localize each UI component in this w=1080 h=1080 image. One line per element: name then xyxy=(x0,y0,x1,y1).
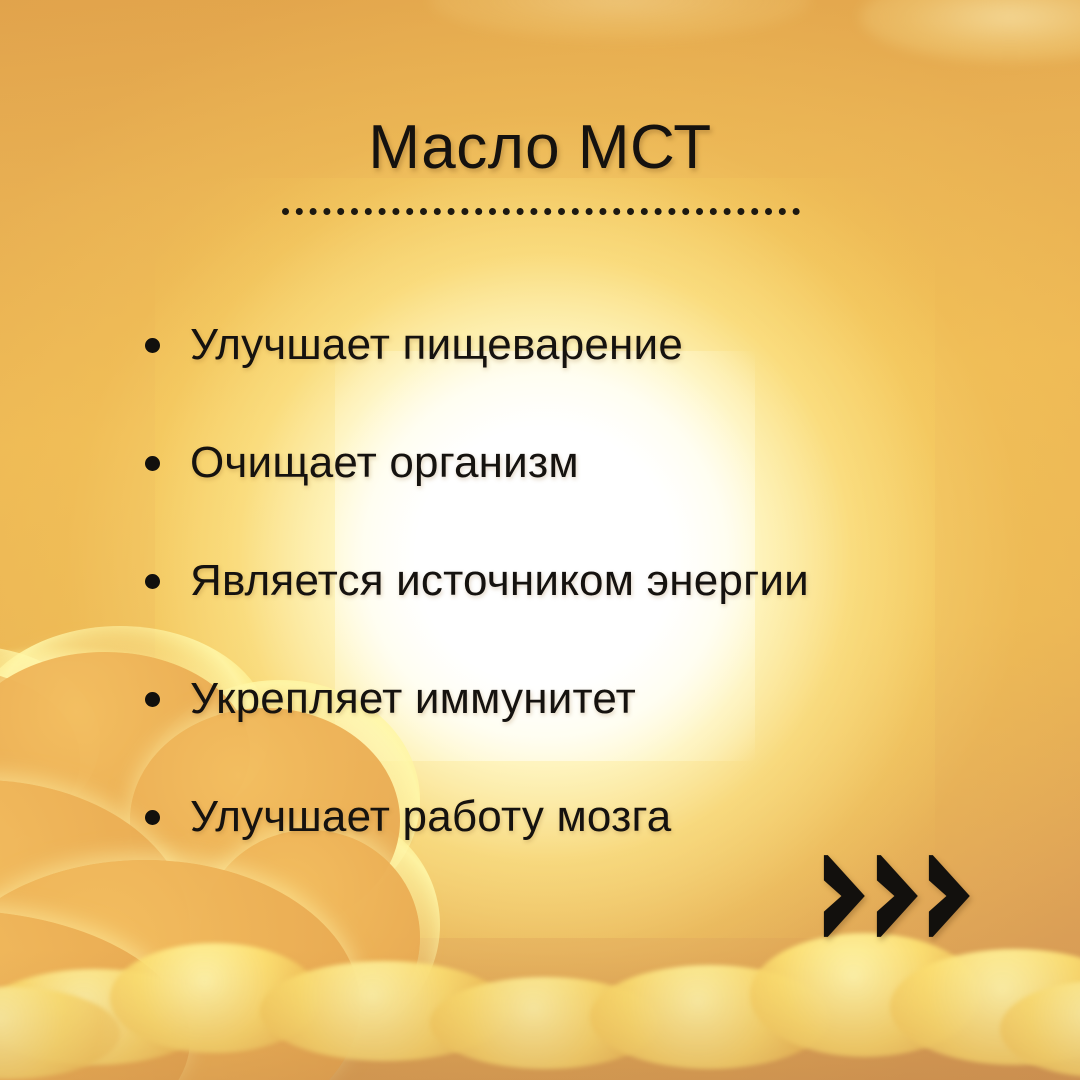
bullet-dot-icon xyxy=(145,692,160,707)
benefit-label: Является источником энергии xyxy=(190,556,809,606)
chevron-right-icon xyxy=(925,848,976,944)
benefit-label: Улучшает работу мозга xyxy=(190,792,671,842)
benefit-label: Улучшает пищеварение xyxy=(190,320,683,370)
dotted-divider xyxy=(282,208,800,215)
bullet-dot-icon xyxy=(145,574,160,589)
poster-content: Масло МСТ Улучшает пищеварение Очищает о… xyxy=(0,0,1080,1080)
list-item: Улучшает пищеварение xyxy=(142,286,1002,404)
bullet-dot-icon xyxy=(145,338,160,353)
list-item: Укрепляет иммунитет xyxy=(142,640,1002,758)
list-item: Является источником энергии xyxy=(142,522,1002,640)
benefit-label: Очищает организм xyxy=(190,438,579,488)
benefits-list: Улучшает пищеварение Очищает организм Яв… xyxy=(142,286,1002,876)
poster-canvas: Масло МСТ Улучшает пищеварение Очищает о… xyxy=(0,0,1080,1080)
swipe-next-button[interactable] xyxy=(820,848,976,944)
benefit-label: Укрепляет иммунитет xyxy=(190,674,636,724)
chevron-right-icon xyxy=(820,848,871,944)
chevron-right-icon xyxy=(873,848,924,944)
list-item: Очищает организм xyxy=(142,404,1002,522)
page-title: Масло МСТ xyxy=(0,112,1080,183)
bullet-dot-icon xyxy=(145,810,160,825)
bullet-dot-icon xyxy=(145,456,160,471)
